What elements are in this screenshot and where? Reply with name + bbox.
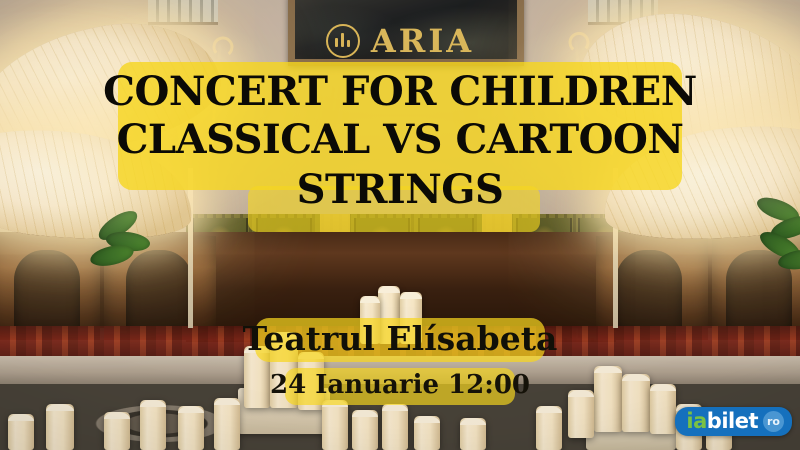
- aria-logo: ARIA: [0, 22, 800, 60]
- title-line-3: STRINGS: [0, 170, 800, 210]
- iabilet-tld-badge: ro: [763, 411, 784, 432]
- venue-name: Teatrul Elísabeta: [0, 322, 800, 357]
- iabilet-logo[interactable]: iabilet ro: [675, 407, 792, 436]
- title-line-1: CONCERT FOR CHILDREN: [0, 72, 800, 112]
- event-title: CONCERT FOR CHILDREN CLASSICAL VS CARTOO…: [0, 72, 800, 210]
- iabilet-prefix: ia: [686, 409, 706, 433]
- aria-wordmark: ARIA: [371, 22, 474, 60]
- aria-circle-bars-icon: [326, 24, 360, 58]
- iabilet-main: bilet: [707, 409, 758, 433]
- event-poster: ARIA CONCERT FOR CHILDREN CLASSICAL VS C…: [0, 0, 800, 450]
- event-date-time: 24 Ianuarie 12:00: [0, 372, 800, 399]
- title-line-2: CLASSICAL VS CARTOON: [0, 120, 800, 160]
